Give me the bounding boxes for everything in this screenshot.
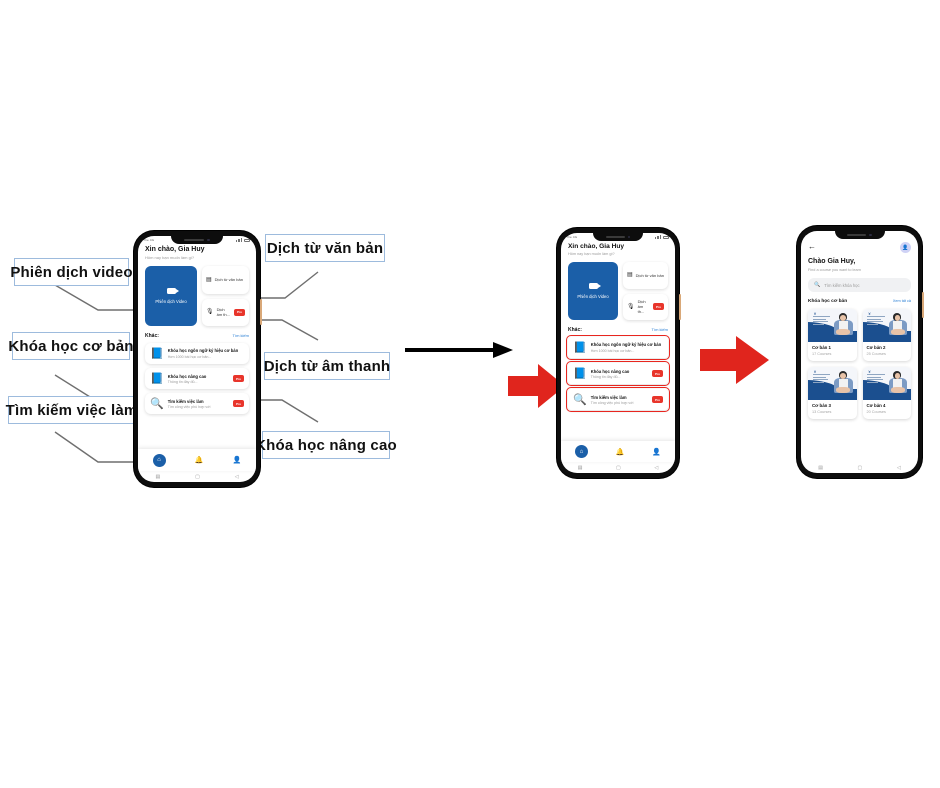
course-count: 13 Courses: [812, 410, 853, 414]
search-icon: 🔍: [814, 282, 820, 288]
pro-badge: Pro: [233, 400, 244, 407]
course-list: 📘 Khóa học ngôn ngữ ký hiệu cơ bản Hơn 1…: [145, 343, 249, 414]
callout-label: Khóa học nâng cao: [255, 437, 397, 454]
power-button[interactable]: [260, 299, 262, 325]
mini-card-column: ▤ Dịch từ văn bản 🎙 Dịch âm th... Pro: [623, 262, 668, 320]
thumb-logo-icon: ¥: [814, 311, 816, 316]
section-title: Khóa học cơ bản: [808, 299, 847, 304]
video-card-label: Phiên dịch Video: [577, 294, 608, 299]
course-subtitle: Hơn 1000 bài học cơ bản...: [591, 349, 663, 353]
document-icon: ▤: [206, 277, 212, 283]
pro-badge: Pro: [653, 303, 664, 310]
mini-card-label: Dịch từ văn bản: [636, 273, 664, 278]
other-section-header: Khác: Tìm kiếm: [568, 327, 668, 333]
callout-tim-kiem-viec-lam: Tìm kiếm việc làm: [8, 396, 135, 424]
thumb-person-illustration: [887, 313, 909, 339]
book-icon: 📘: [150, 372, 164, 385]
black-flow-arrow: [405, 340, 515, 360]
briefcase-search-icon: 🔍: [150, 397, 164, 410]
battery-icon: [663, 236, 669, 239]
phone1-content: Xin chào, Gia Huy Hôm nay bạn muốn làm g…: [138, 243, 256, 414]
section-action-link[interactable]: Xem tất cả: [893, 299, 911, 303]
course-title: Cơ bản 4: [867, 403, 908, 408]
hero-row: Phiên dịch Video ▤ Dịch từ văn bản 🎙 Dịc…: [145, 266, 249, 326]
course-grid: ¥ Cơ bản 1 17 Courses: [808, 309, 911, 419]
thumb-person-illustration: [832, 371, 854, 397]
thumb-text-lines: [813, 374, 832, 384]
back-icon[interactable]: ◁: [897, 465, 901, 471]
bottom-tab-bar: ⌂ 🔔 👤: [138, 449, 256, 471]
course-card-highlighted[interactable]: 📘 Khóa học nâng cao Thông tin đầy đủ... …: [568, 363, 668, 384]
phone-screen-1: Vie 4G Xin chào, Gia Huy Hôm nay bạn muố…: [134, 231, 260, 487]
signal-icon: [236, 238, 243, 242]
back-arrow-icon[interactable]: ←: [808, 242, 816, 251]
book-icon: 📘: [573, 341, 587, 354]
microphone-icon: 🎙: [627, 304, 635, 310]
section-title: Khác:: [568, 327, 582, 333]
hero-row: Phiên dịch Video ▤ Dịch từ văn bản 🎙 Dịc…: [568, 262, 668, 320]
signal-icon: [655, 235, 662, 239]
pro-badge: Pro: [234, 309, 245, 316]
pro-badge: Pro: [652, 370, 663, 377]
notch: [171, 236, 223, 244]
mini-card-label: Dịch âm th...: [217, 307, 231, 317]
battery-icon: [244, 239, 250, 242]
book-icon: 📘: [573, 367, 587, 380]
other-section-header: Khác: Tìm kiếm: [145, 333, 249, 339]
callout-phien-dich-video: Phiên dịch video: [14, 258, 129, 286]
phone-screen-3: ← 👤 Chào Gia Huy, Find a course you want…: [797, 226, 922, 478]
menu-icon[interactable]: ▤: [578, 465, 583, 471]
bottom-tab-bar: ⌂ 🔔 👤: [561, 441, 675, 462]
tab-home[interactable]: ⌂: [153, 454, 166, 467]
course-card[interactable]: 🔍 Tìm kiếm việc làm Tìm công việc phù hợ…: [145, 393, 249, 414]
greeting-title: Chào Gia Huy,: [808, 258, 911, 265]
course-thumbnail: ¥: [863, 367, 912, 400]
phone-screen-2: Vie 4G Xin chào, Gia Huy Hôm nay bạn muố…: [557, 228, 679, 478]
course-thumbnail: ¥: [863, 309, 912, 342]
video-camera-icon: [589, 283, 598, 289]
notch: [593, 233, 643, 241]
document-icon: ▤: [627, 272, 633, 278]
briefcase-search-icon: 🔍: [573, 393, 587, 406]
front-camera: [207, 239, 210, 242]
greeting-title: Xin chào, Gia Huy: [145, 246, 249, 253]
course-title: Tìm kiếm việc làm: [591, 395, 648, 400]
course-thumbnail: ¥: [808, 367, 857, 400]
text-translate-card[interactable]: ▤ Dịch từ văn bản: [202, 266, 249, 294]
tab-profile[interactable]: 👤: [652, 448, 661, 456]
callout-dich-tu-van-ban: Dịch từ văn bản: [265, 234, 385, 262]
speaker-grill: [606, 236, 625, 238]
phone3-screen: ← 👤 Chào Gia Huy, Find a course you want…: [801, 231, 918, 473]
basic-courses-header: Khóa học cơ bản Xem tất cả: [808, 299, 911, 304]
course-card[interactable]: 📘 Khóa học nâng cao Thông tin đầy đủ... …: [145, 368, 249, 389]
microphone-icon: 🎙: [206, 309, 214, 315]
course-list: 📘 Khóa học ngôn ngữ ký hiệu cơ bản Hơn 1…: [568, 337, 668, 410]
tab-notifications[interactable]: 🔔: [195, 456, 204, 464]
greeting-subtitle: Hôm nay bạn muốn làm gì?: [568, 252, 668, 256]
home-square-icon[interactable]: ▢: [616, 465, 621, 471]
course-card-highlighted[interactable]: 📘 Khóa học ngôn ngữ ký hiệu cơ bản Hơn 1…: [568, 337, 668, 358]
audio-translate-card[interactable]: 🎙 Dịch âm th... Pro: [623, 294, 668, 321]
course-subtitle: Hơn 1000 bài học cơ bản...: [168, 355, 244, 359]
course-thumb-card[interactable]: ¥ Cơ bản 2 25 Courses: [863, 309, 912, 361]
thumb-logo-icon: ¥: [868, 369, 870, 374]
front-camera: [628, 236, 631, 239]
audio-translate-card[interactable]: 🎙 Dịch âm th... Pro: [202, 299, 249, 327]
search-placeholder: Tìm kiếm khóa học: [824, 283, 859, 288]
back-icon[interactable]: ◁: [654, 465, 658, 471]
phone3-content: ← 👤 Chào Gia Huy, Find a course you want…: [801, 231, 918, 419]
power-button[interactable]: [679, 294, 681, 320]
tab-notifications[interactable]: 🔔: [616, 448, 625, 456]
course-thumb-card[interactable]: ¥ Cơ bản 3 13 Courses: [808, 367, 857, 419]
thumb-person-illustration: [832, 313, 854, 339]
red-flow-arrow-2: [700, 334, 770, 386]
section-action-link[interactable]: Tìm kiếm: [233, 333, 249, 338]
section-title: Khác:: [145, 333, 159, 339]
course-count: 20 Courses: [867, 410, 908, 414]
phone2-content: Xin chào, Gia Huy Hôm nay bạn muốn làm g…: [561, 240, 675, 410]
back-icon[interactable]: ◁: [235, 474, 239, 480]
home-square-icon[interactable]: ▢: [858, 465, 863, 471]
front-camera: [869, 234, 872, 237]
book-icon: 📘: [150, 347, 164, 360]
thumb-text-lines: [867, 316, 886, 326]
callout-label: Dịch từ văn bản: [267, 240, 383, 257]
thumb-text-lines: [813, 316, 832, 326]
course-thumbnail: ¥: [808, 309, 857, 342]
course-subtitle: Thông tin đầy đủ...: [168, 380, 229, 384]
course-thumb-card[interactable]: ¥ Cơ bản 4 20 Courses: [863, 367, 912, 419]
notch: [835, 231, 885, 239]
system-nav-bar: ▤ ▢ ◁: [801, 462, 918, 473]
course-title: Cơ bản 3: [812, 403, 853, 408]
thumb-person-illustration: [887, 371, 909, 397]
course-title: Tìm kiếm việc làm: [168, 399, 229, 404]
course-title: Cơ bản 1: [812, 345, 853, 350]
callout-label: Dịch từ âm thanh: [264, 358, 391, 375]
system-nav-bar: ▤ ▢ ◁: [561, 462, 675, 473]
course-subtitle: Tìm công việc phù hợp với: [168, 405, 229, 409]
callout-label: Tìm kiếm việc làm: [6, 402, 138, 419]
course-title: Khóa học ngôn ngữ ký hiệu cơ bản: [168, 348, 244, 354]
greeting-title: Xin chào, Gia Huy: [568, 243, 668, 250]
course-subtitle: Tìm công việc phù hợp với: [591, 401, 648, 405]
power-button[interactable]: [922, 292, 924, 318]
thumb-logo-icon: ¥: [868, 311, 870, 316]
phone1-screen: Vie 4G Xin chào, Gia Huy Hôm nay bạn muố…: [138, 236, 256, 482]
pro-badge: Pro: [233, 375, 244, 382]
greeting-subtitle: Find a course you want to learn: [808, 268, 911, 272]
course-title: Khóa học nâng cao: [168, 374, 229, 379]
course-title: Cơ bản 2: [867, 345, 908, 350]
phone3-header: ← 👤: [808, 242, 911, 253]
greeting-subtitle: Hôm nay bạn muốn làm gì?: [145, 255, 249, 260]
speaker-grill: [184, 239, 204, 241]
system-nav-bar: ▤ ▢ ◁: [138, 471, 256, 482]
callout-label: Phiên dịch video: [10, 264, 132, 281]
text-translate-card[interactable]: ▤ Dịch từ văn bản: [623, 262, 668, 289]
callout-khoa-hoc-nang-cao: Khóa học nâng cao: [262, 431, 390, 459]
mini-card-column: ▤ Dịch từ văn bản 🎙 Dịch âm th... Pro: [202, 266, 249, 326]
course-thumb-card[interactable]: ¥ Cơ bản 1 17 Courses: [808, 309, 857, 361]
pro-badge: Pro: [652, 396, 663, 403]
tab-profile[interactable]: 👤: [233, 456, 242, 464]
speaker-grill: [847, 234, 866, 236]
course-card-highlighted[interactable]: 🔍 Tìm kiếm việc làm Tìm công việc phù hợ…: [568, 389, 668, 410]
section-action-link[interactable]: Tìm kiếm: [652, 327, 668, 332]
avatar-icon[interactable]: 👤: [900, 242, 911, 253]
video-translate-card[interactable]: Phiên dịch Video: [568, 262, 618, 320]
callout-dich-tu-am-thanh: Dịch từ âm thanh: [264, 352, 390, 380]
thumb-logo-icon: ¥: [814, 369, 816, 374]
video-translate-card[interactable]: Phiên dịch Video: [145, 266, 197, 326]
thumb-text-lines: [867, 374, 886, 384]
callout-khoa-hoc-co-ban: Khóa học cơ bản: [12, 332, 130, 360]
course-subtitle: Thông tin đầy đủ...: [591, 375, 648, 379]
callout-label: Khóa học cơ bản: [8, 338, 133, 355]
mini-card-label: Dịch từ văn bản: [215, 277, 245, 282]
diagram-canvas: Phiên dịch video Khóa học cơ bản Tìm kiế…: [0, 0, 940, 788]
mini-card-label: Dịch âm th...: [638, 299, 650, 314]
menu-icon[interactable]: ▤: [818, 465, 823, 471]
menu-icon[interactable]: ▤: [155, 474, 160, 480]
course-card[interactable]: 📘 Khóa học ngôn ngữ ký hiệu cơ bản Hơn 1…: [145, 343, 249, 364]
tab-home[interactable]: ⌂: [575, 445, 588, 458]
carrier-label: Vie 4G: [144, 238, 154, 242]
search-input[interactable]: 🔍 Tìm kiếm khóa học: [808, 278, 911, 292]
carrier-label: Vie 4G: [567, 235, 577, 239]
phone2-screen: Vie 4G Xin chào, Gia Huy Hôm nay bạn muố…: [561, 233, 675, 473]
course-title: Khóa học nâng cao: [591, 369, 648, 374]
course-count: 17 Courses: [812, 352, 853, 356]
video-camera-icon: [167, 288, 176, 294]
course-title: Khóa học ngôn ngữ ký hiệu cơ bản: [591, 342, 663, 348]
home-square-icon[interactable]: ▢: [195, 474, 200, 480]
course-count: 25 Courses: [867, 352, 908, 356]
video-card-label: Phiên dịch Video: [155, 299, 186, 304]
